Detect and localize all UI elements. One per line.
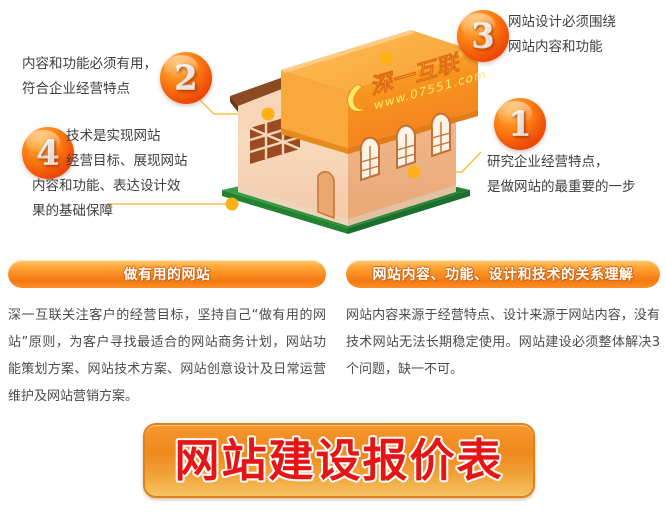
callout-4-line-3: 内容和功能、表达设计效 (32, 174, 188, 199)
info-panels: 做有用的网站 深一互联关注客户的经营目标，坚持自己“做有用的网站”原则，为客户寻… (0, 260, 666, 410)
window-3 (432, 114, 450, 156)
connector-dot-2 (262, 108, 275, 121)
callout-2-line-1: 内容和功能必须有用， (22, 52, 157, 77)
callout-1-line-1: 研究企业经营特点， (487, 150, 636, 175)
badge-1-label: 1 (508, 107, 532, 141)
callout-1-line-2: 是做网站的最重要的一步 (487, 175, 636, 200)
panel-left-heading-text: 做有用的网站 (124, 264, 211, 284)
panel-right: 网站内容、功能、设计和技术的关系理解 网站内容来源于经营特点、设计来源于网站内容… (346, 260, 660, 396)
panel-left-body: 深一互联关注客户的经营目标，坚持自己“做有用的网站”原则，为客户寻找最适合的网站… (8, 302, 326, 410)
connector-dot-1 (408, 166, 421, 179)
badge-number-1[interactable]: 1 (494, 98, 546, 150)
badge-number-2[interactable]: 2 (160, 52, 212, 104)
badge-4-label: 4 (36, 136, 60, 170)
connector-dot-4 (226, 198, 239, 211)
callout-text-1: 研究企业经营特点， 是做网站的最重要的一步 (487, 150, 636, 200)
hero-illustration-area: 深一互联 ® www.07551.com (0, 0, 666, 258)
panel-right-heading-pill: 网站内容、功能、设计和技术的关系理解 (346, 260, 660, 288)
badge-3-label: 3 (471, 19, 495, 53)
panel-right-body: 网站内容来源于经营特点、设计来源于网站内容，没有技术网站无法长期稳定使用。网站建… (346, 302, 660, 383)
connector-dot-3 (380, 52, 393, 65)
panel-left: 做有用的网站 深一互联关注客户的经营目标，坚持自己“做有用的网站”原则，为客户寻… (8, 260, 326, 423)
callout-2-line-2: 符合企业经营特点 (22, 77, 157, 102)
callout-3-line-1: 网站设计必须围绕 (508, 10, 616, 35)
infographic-page: 深一互联 ® www.07551.com (0, 0, 666, 516)
callout-text-3: 网站设计必须围绕 网站内容和功能 (508, 10, 616, 60)
badge-number-3[interactable]: 3 (457, 10, 509, 62)
callout-3-line-2: 网站内容和功能 (508, 35, 616, 60)
quote-table-cta-button[interactable]: 网站建设报价表 (143, 423, 535, 498)
panel-left-heading-pill: 做有用的网站 (8, 260, 326, 288)
panel-right-heading-text: 网站内容、功能、设计和技术的关系理解 (373, 264, 634, 284)
callout-4-line-4: 果的基础保障 (32, 199, 188, 224)
quote-table-cta-label: 网站建设报价表 (174, 438, 503, 483)
window-1 (361, 138, 379, 180)
front-door (318, 172, 334, 218)
callout-text-2: 内容和功能必须有用， 符合企业经营特点 (22, 52, 157, 102)
badge-2-label: 2 (174, 61, 198, 95)
window-2 (397, 126, 415, 168)
